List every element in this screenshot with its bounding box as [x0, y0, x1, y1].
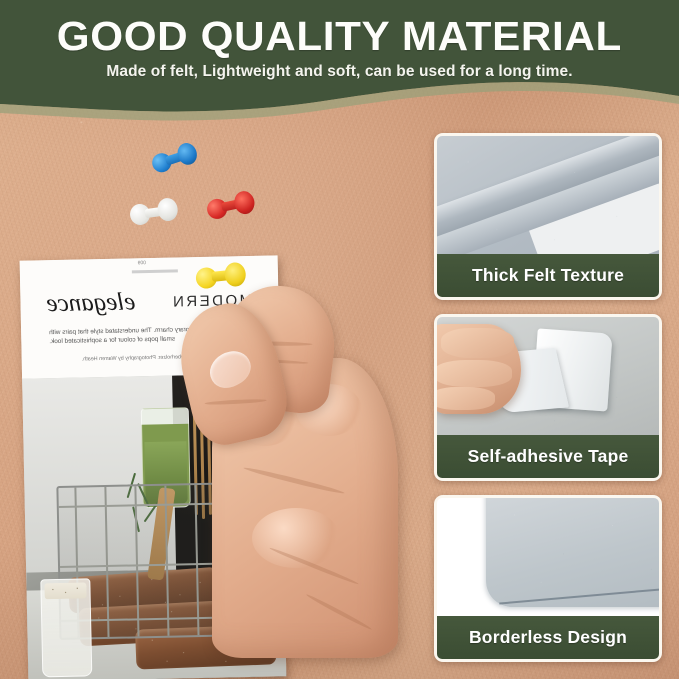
feature-card-image [437, 136, 659, 254]
feature-card-label-text: Self-adhesive Tape [468, 446, 629, 467]
feature-card-label: Self-adhesive Tape [437, 435, 659, 478]
feature-card-image [437, 498, 659, 616]
feature-card-label-text: Borderless Design [469, 627, 627, 648]
page-subtitle: Made of felt, Lightweight and soft, can … [106, 63, 572, 81]
poster-caption: 009 [138, 260, 146, 266]
feature-card-self-adhesive-tape[interactable]: Self-adhesive Tape [434, 314, 662, 481]
poster-rule [132, 269, 178, 273]
feature-card-label: Thick Felt Texture [437, 254, 659, 297]
feature-card-label-text: Thick Felt Texture [472, 265, 624, 286]
page-title: GOOD QUALITY MATERIAL [57, 14, 622, 58]
infographic-canvas: 009 elegance MODERN There is a contempor… [0, 0, 679, 679]
poster-script-word: elegance [46, 288, 135, 318]
feature-card-thick-felt-texture[interactable]: Thick Felt Texture [434, 133, 662, 300]
hand-pressing-pin [176, 262, 428, 679]
feature-card-label: Borderless Design [437, 616, 659, 659]
photo-milk-glass [40, 578, 92, 677]
feature-card-borderless-design[interactable]: Borderless Design [434, 495, 662, 662]
push-pin-yellow [195, 261, 248, 294]
feature-card-image [437, 317, 659, 435]
photo-seeds [44, 582, 86, 599]
header-banner: GOOD QUALITY MATERIAL Made of felt, Ligh… [0, 0, 679, 140]
thumb-nail [204, 344, 257, 394]
